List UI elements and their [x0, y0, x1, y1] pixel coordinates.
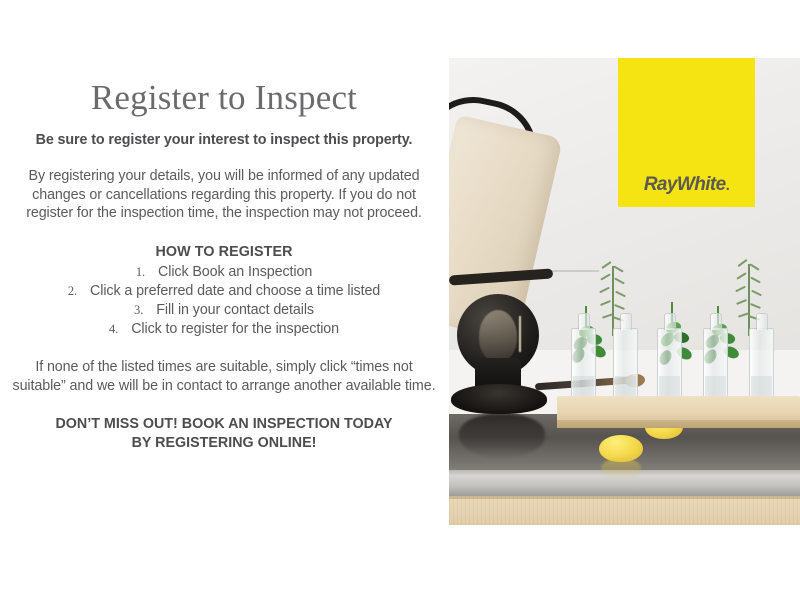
how-to-register-steps: 1.Click Book an Inspection 2.Click a pre…	[0, 263, 448, 339]
bottle-neck	[620, 313, 632, 330]
step-text: Click a preferred date and choose a time…	[90, 283, 380, 299]
list-item: 3.Fill in your contact details	[0, 301, 448, 320]
step-number: 4.	[109, 321, 118, 338]
chopping-board-edge	[557, 420, 800, 428]
glass-bottle	[703, 328, 728, 402]
glass-bottle	[657, 328, 682, 402]
ray-white-logo-text: RayWhite.	[644, 175, 729, 194]
lemon-reflection	[601, 458, 641, 478]
ray-white-logo: RayWhite.	[618, 58, 755, 207]
lead-statement: Be sure to register your interest to ins…	[0, 131, 448, 150]
bottle-neck	[578, 313, 590, 330]
step-text: Fill in your contact details	[156, 302, 314, 318]
scale-needle	[519, 316, 521, 352]
list-item: 1.Click Book an Inspection	[0, 263, 448, 282]
page-title: Register to Inspect	[0, 78, 448, 117]
call-to-action: DON’T MISS OUT! BOOK AN INSPECTION TODAY…	[0, 415, 448, 452]
brand-name: RayWhite	[644, 174, 726, 195]
bottle-neck	[710, 313, 722, 330]
list-item: 4.Click to register for the inspection	[0, 320, 448, 339]
call-to-action-line-2: BY REGISTERING ONLINE!	[0, 434, 448, 453]
how-to-register-heading: HOW TO REGISTER	[0, 243, 448, 262]
herb-bottles-group	[571, 290, 799, 402]
step-number: 1.	[136, 264, 145, 281]
step-text: Click Book an Inspection	[158, 264, 312, 280]
scale-dial-face	[479, 310, 517, 362]
bottle-neck	[664, 313, 676, 330]
photo-cabinetry	[449, 496, 800, 525]
flyer-canvas: Register to Inspect Be sure to register …	[0, 0, 800, 600]
step-number: 2.	[68, 283, 77, 300]
cabinet-seam	[449, 496, 800, 499]
alternative-times-paragraph: If none of the listed times are suitable…	[0, 358, 448, 396]
registration-info-paragraph: By registering your details, you will be…	[0, 167, 448, 224]
glass-bottle	[613, 328, 638, 402]
glass-bottle	[571, 328, 596, 402]
bottle-neck	[756, 313, 768, 330]
step-number: 3.	[134, 302, 143, 319]
scale-foot	[451, 384, 547, 414]
flyer-text-panel: Register to Inspect Be sure to register …	[0, 78, 448, 452]
property-photo: RayWhite.	[449, 58, 800, 525]
trademark-dot: .	[726, 177, 730, 194]
glass-bottle	[749, 328, 774, 402]
step-text: Click to register for the inspection	[131, 321, 339, 337]
scale-reflection	[459, 414, 545, 458]
list-item: 2.Click a preferred date and choose a ti…	[0, 282, 448, 301]
call-to-action-line-1: DON’T MISS OUT! BOOK AN INSPECTION TODAY	[0, 415, 448, 434]
